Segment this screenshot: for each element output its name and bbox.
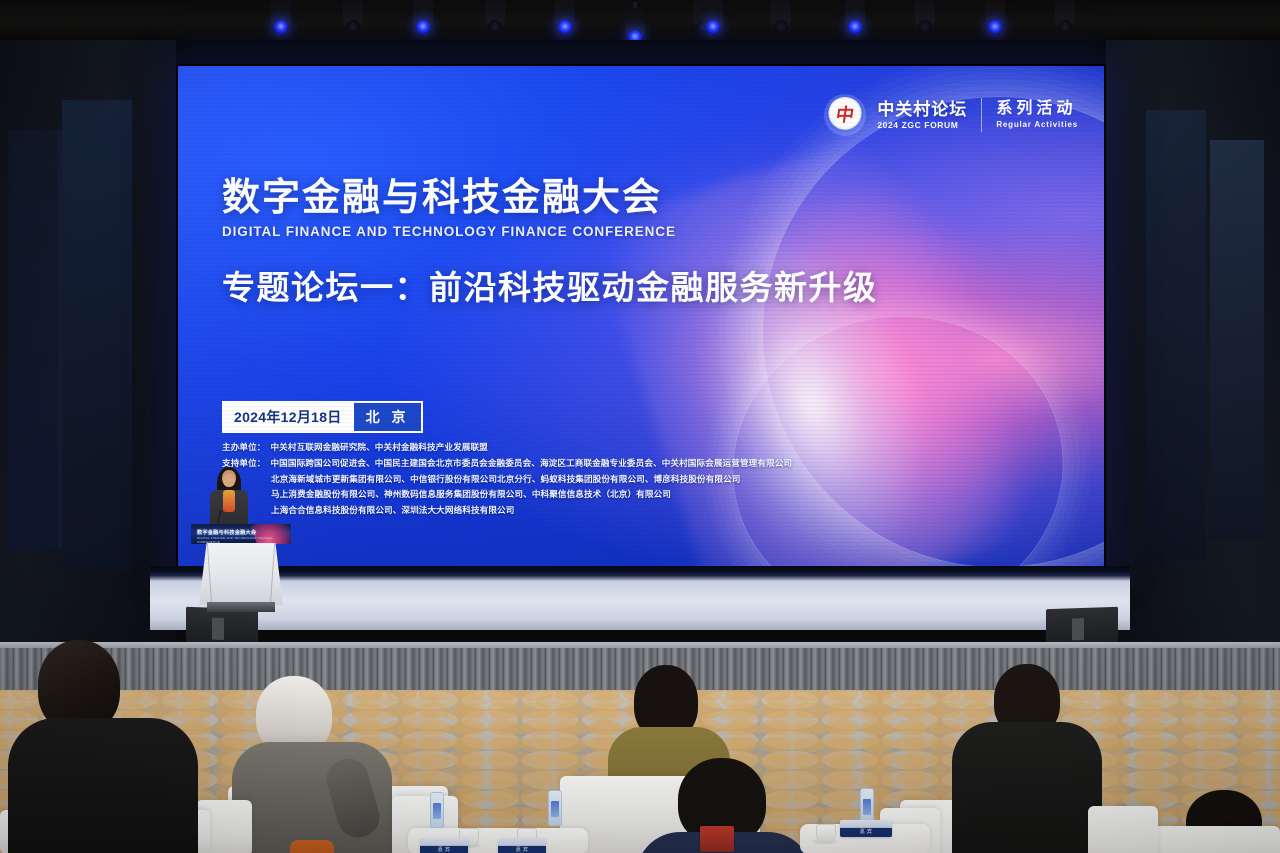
organizer-label: 主办单位： — [222, 442, 265, 452]
organizer-line: 北京海新域城市更新集团有限公司、中信银行股份有限公司北京分行、蚂蚁科技集团股份有… — [271, 475, 922, 484]
organizer-line: 支持单位：中国国际跨国公司促进会、中国民主建国会北京市委员会金融委员会、海淀区工… — [222, 459, 922, 468]
sofa-right-back — [1148, 826, 1280, 853]
series-activity-text: 系列活动 Regular Activities — [996, 101, 1078, 129]
speaker-presenter — [206, 470, 252, 530]
podium-banner: 数字金融与科技金融大会 DIGITAL FINANCE AND TECHNOLO… — [191, 524, 291, 544]
organizer-value: 中国国际跨国公司促进会、中国民主建国会北京市委员会金融委员会、海淀区工商联金融专… — [270, 458, 792, 468]
stage-light-icon — [1052, 0, 1078, 42]
attendee-torso — [8, 718, 198, 853]
zgc-forum-logo: 中 中关村论坛 2024 ZGC FORUM 系列活动 Regular Acti… — [827, 97, 1078, 133]
name-badge — [700, 826, 734, 852]
water-bottle — [430, 792, 444, 828]
name-plate: 嘉 宾 — [420, 838, 468, 853]
podium-banner-subtitle: DIGITAL FINANCE AND TECHNOLOGY FINANCE C… — [197, 536, 291, 544]
podium-base — [207, 602, 275, 612]
conference-title-zh: 数字金融与科技金融大会 — [222, 178, 878, 219]
organizer-value: 马上消费金融股份有限公司、神州数码信息服务集团股份有限公司、中科聚信信息技术（北… — [271, 489, 671, 499]
stage-light-icon — [340, 0, 366, 42]
zgc-logo-text: 中关村论坛 2024 ZGC FORUM — [877, 101, 967, 130]
tea-cup — [816, 824, 836, 842]
stage-light-icon — [768, 0, 794, 42]
stage-light-icon — [700, 0, 726, 42]
podium-banner-title: 数字金融与科技金融大会 — [197, 529, 256, 536]
stage-light-icon — [482, 0, 508, 42]
logo-divider — [981, 98, 982, 132]
attendee-scarf — [290, 840, 334, 853]
conference-title-en: DIGITAL FINANCE AND TECHNOLOGY FINANCE C… — [222, 224, 878, 239]
name-plate-text: 嘉 宾 — [420, 846, 468, 853]
zgc-logo-en-name: 2024 ZGC FORUM — [877, 121, 967, 130]
sofa-right-arm2 — [1088, 806, 1158, 853]
name-plate: 嘉 宾 — [840, 820, 892, 837]
zgc-logo-cn-name: 中关村论坛 — [877, 101, 967, 118]
event-date: 2024年12月18日 — [224, 403, 354, 431]
stage-light-icon — [410, 0, 436, 42]
event-city: 北 京 — [354, 403, 422, 431]
podium: 数字金融与科技金融大会 DIGITAL FINANCE AND TECHNOLO… — [191, 524, 291, 610]
attendee-torso — [952, 722, 1102, 853]
right-wall — [1106, 40, 1280, 680]
stage-light-icon — [842, 0, 868, 42]
organizer-value: 北京海新域城市更新集团有限公司、中信银行股份有限公司北京分行、蚂蚁科技集团股份有… — [271, 474, 740, 484]
series-activity-cn: 系列活动 — [996, 101, 1078, 117]
stage-light-icon — [912, 0, 938, 42]
lighting-truss — [0, 0, 1280, 40]
speaker-face — [223, 474, 235, 487]
led-screen: 中 中关村论坛 2024 ZGC FORUM 系列活动 Regular Acti… — [178, 66, 1104, 570]
stage-floor — [150, 572, 1130, 630]
stage-light-icon — [268, 0, 294, 42]
zgc-logo-glyph: 中 — [835, 106, 856, 124]
organizer-value: 上海合合信息科技股份有限公司、深圳法大大网络科技有限公司 — [271, 505, 514, 515]
stage-light-icon — [982, 0, 1008, 42]
organizer-value: 中关村互联网金融研究院、中关村金融科技产业发展联盟 — [270, 442, 487, 452]
forum-subtitle-zh: 专题论坛一：前沿科技驱动金融服务新升级 — [222, 261, 878, 309]
name-plate-text: 嘉 宾 — [498, 846, 546, 853]
name-plate-text: 嘉 宾 — [840, 828, 892, 835]
podium-body — [199, 543, 283, 605]
water-bottle — [548, 790, 562, 826]
attendee-1 — [8, 640, 208, 853]
stage-light-icon — [552, 0, 578, 42]
date-location-badge: 2024年12月18日 北 京 — [222, 401, 423, 433]
organizer-line: 马上消费金融股份有限公司、神州数码信息服务集团股份有限公司、中科聚信信息技术（北… — [271, 490, 922, 499]
series-activity-en: Regular Activities — [996, 121, 1078, 129]
speaker-scarf — [223, 490, 235, 512]
name-plate: 嘉 宾 — [498, 838, 546, 853]
organizer-line: 主办单位：中关村互联网金融研究院、中关村金融科技产业发展联盟 — [222, 443, 922, 452]
title-block: 数字金融与科技金融大会 DIGITAL FINANCE AND TECHNOLO… — [222, 178, 878, 309]
water-bottle — [860, 788, 874, 824]
zgc-logo-mark-icon: 中 — [827, 97, 863, 133]
organizer-list: 主办单位：中关村互联网金融研究院、中关村金融科技产业发展联盟 支持单位：中国国际… — [222, 443, 922, 522]
organizer-line: 上海合合信息科技股份有限公司、深圳法大大网络科技有限公司 — [271, 506, 922, 515]
conference-stage-photo: 中 中关村论坛 2024 ZGC FORUM 系列活动 Regular Acti… — [0, 0, 1280, 853]
attendee-2 — [232, 676, 412, 853]
